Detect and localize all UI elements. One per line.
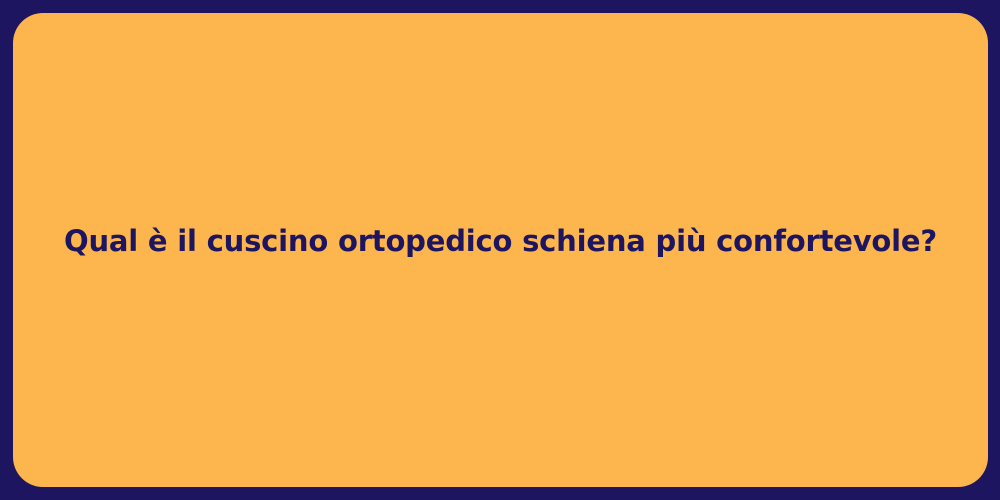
- question-card-frame: Qual è il cuscino ortopedico schiena più…: [0, 0, 1000, 500]
- question-card-panel: Qual è il cuscino ortopedico schiena più…: [13, 13, 988, 487]
- question-heading: Qual è il cuscino ortopedico schiena più…: [13, 223, 988, 260]
